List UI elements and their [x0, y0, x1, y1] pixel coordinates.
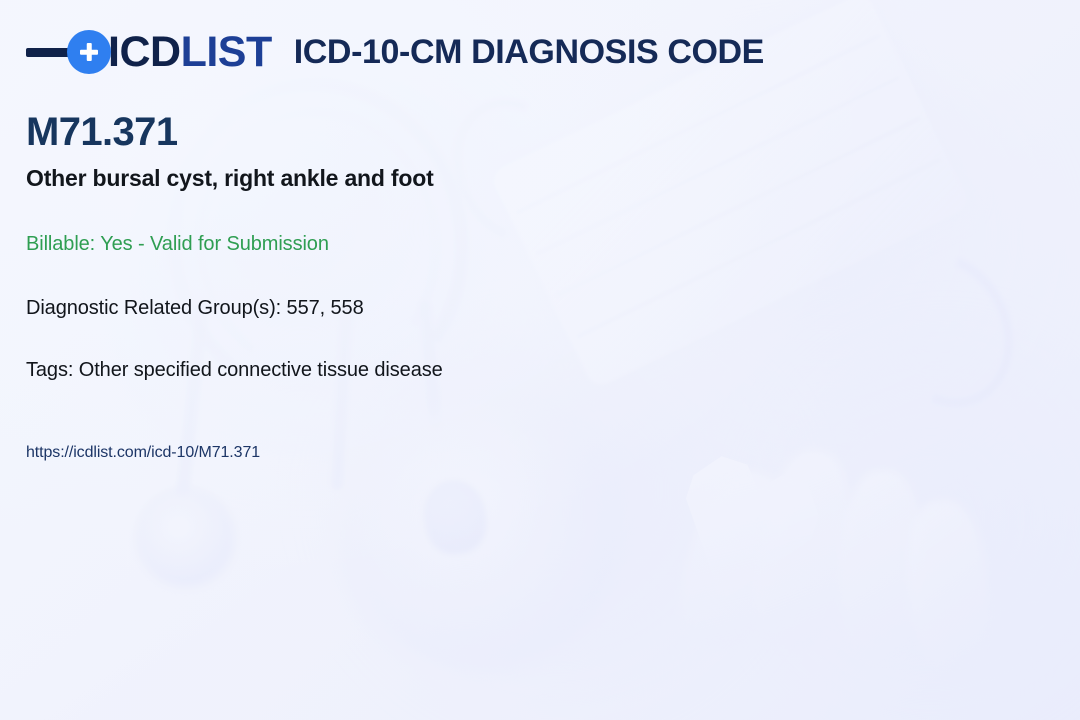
hand-graphic	[901, 497, 993, 668]
drg-list: Diagnostic Related Group(s): 557, 558	[26, 295, 986, 321]
logo-wordmark: ICDLIST	[108, 31, 272, 74]
stethoscope-bell-graphic	[419, 476, 491, 558]
background-blob	[300, 330, 820, 720]
dash-icon	[26, 48, 72, 57]
diagnosis-code-card: ICDLIST ICD-10-CM DIAGNOSIS CODE M71.371…	[0, 0, 1080, 720]
header: ICDLIST ICD-10-CM DIAGNOSIS CODE	[26, 24, 764, 80]
billable-status: Billable: Yes - Valid for Submission	[26, 231, 986, 257]
tags-list: Tags: Other specified connective tissue …	[26, 357, 986, 383]
icdlist-logo[interactable]: ICDLIST	[26, 24, 272, 80]
logo-text-icd: ICD	[108, 28, 181, 76]
hand-graphic	[667, 461, 803, 659]
page-title: ICD-10-CM DIAGNOSIS CODE	[294, 35, 764, 69]
stethoscope-chestpiece-graphic	[140, 492, 232, 584]
background-blob	[760, 330, 1080, 720]
stethoscope-chestpiece-graphic	[340, 400, 620, 670]
diagnosis-description: Other bursal cyst, right ankle and foot	[26, 164, 986, 193]
diagnosis-details: M71.371 Other bursal cyst, right ankle a…	[26, 110, 986, 383]
logo-text-list: LIST	[181, 28, 272, 76]
hand-graphic	[837, 469, 926, 662]
paper-heart-graphic	[650, 435, 839, 624]
diagnosis-code: M71.371	[26, 110, 986, 154]
source-url-link[interactable]: https://icdlist.com/icd-10/M71.371	[26, 444, 260, 462]
plus-circle-icon	[67, 30, 111, 74]
hand-graphic	[745, 445, 861, 656]
